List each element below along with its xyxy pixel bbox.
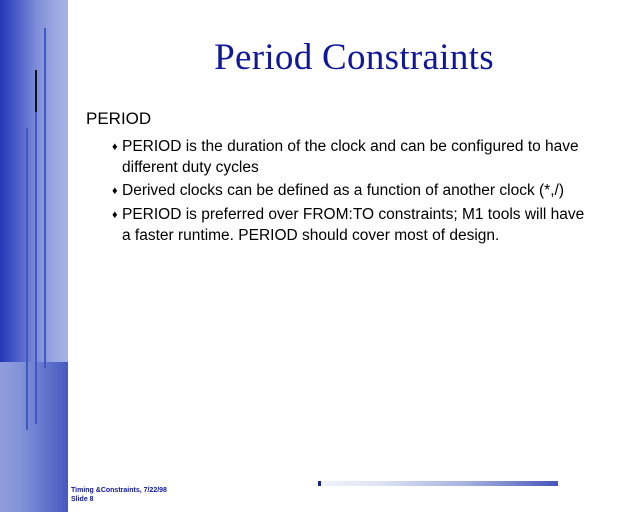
diamond-bullet-icon: ♦ (86, 180, 122, 202)
footer-divider-bar (318, 481, 558, 486)
list-item: ♦ PERIOD is preferred over FROM:TO const… (86, 204, 586, 246)
sidebar-accent-line-mid (35, 112, 37, 424)
sidebar-gradient-bottom (0, 362, 68, 512)
list-item-text: Derived clocks can be defined as a funct… (122, 180, 586, 201)
slide-footer: Timing &Constraints, 7/22/98 Slide 8 (71, 487, 167, 504)
sidebar-accent-line-long (44, 28, 46, 368)
sidebar-decoration (0, 0, 68, 512)
diamond-bullet-icon: ♦ (86, 136, 122, 158)
sidebar-accent-line-black (35, 70, 37, 112)
list-item-text: PERIOD is the duration of the clock and … (122, 136, 586, 178)
list-item: ♦ PERIOD is the duration of the clock an… (86, 136, 586, 178)
body-heading: PERIOD (86, 108, 586, 129)
list-item-text: PERIOD is preferred over FROM:TO constra… (122, 204, 586, 246)
diamond-bullet-icon: ♦ (86, 204, 122, 226)
slide-canvas: Period Constraints PERIOD ♦ PERIOD is th… (0, 0, 640, 512)
footer-line-slide-number: Slide 8 (71, 496, 167, 505)
slide-body: PERIOD ♦ PERIOD is the duration of the c… (86, 108, 586, 248)
list-item: ♦ Derived clocks can be defined as a fun… (86, 180, 586, 202)
slide-title: Period Constraints (68, 36, 640, 80)
footer-line-title: Timing &Constraints, 7/22/98 (71, 487, 167, 496)
footer-divider-cap (318, 481, 321, 486)
sidebar-accent-line-short (26, 128, 28, 430)
